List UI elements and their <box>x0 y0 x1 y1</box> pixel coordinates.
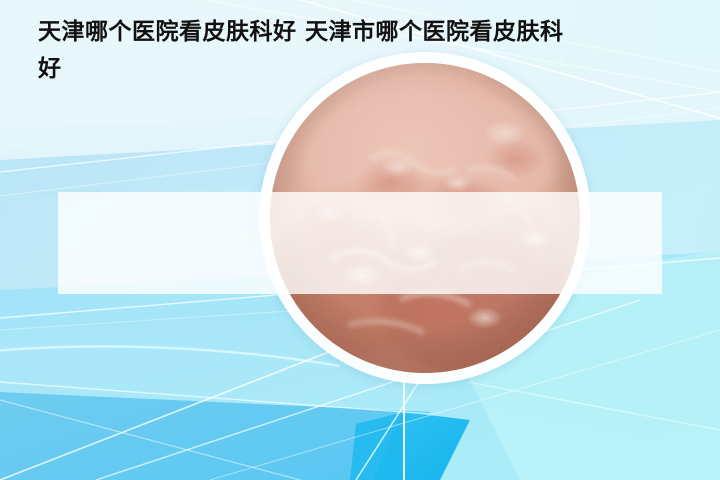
title-plate <box>58 192 662 294</box>
page-title: 天津哪个医院看皮肤科好 天津市哪个医院看皮肤科好 <box>38 14 586 88</box>
article-header-banner: 天津哪个医院看皮肤科好 天津市哪个医院看皮肤科好 <box>0 0 720 480</box>
